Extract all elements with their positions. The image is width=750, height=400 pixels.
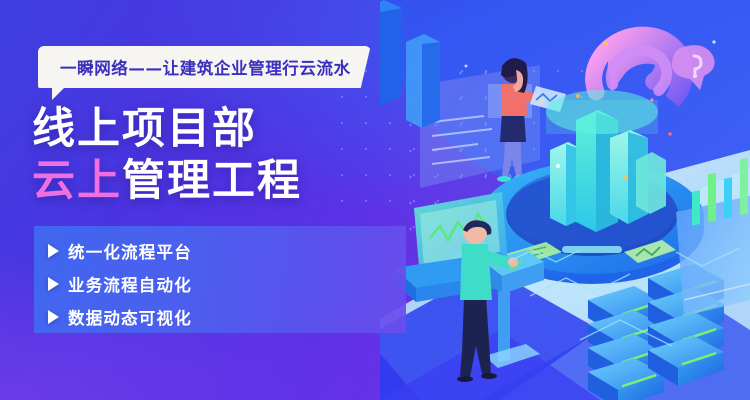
bullet-label: 统一化流程平台 [68, 239, 192, 263]
illustration-canvas [380, 0, 750, 400]
triangle-right-icon [48, 277, 59, 291]
bullet-label: 数据动态可视化 [68, 305, 192, 329]
text-column: 一瞬网络——让建筑企业管理行云流水 线上项目部 云上管理工程 统一化流程平台 业… [0, 0, 420, 400]
list-item: 业务流程自动化 [48, 267, 388, 300]
bullet-label: 业务流程自动化 [68, 272, 192, 296]
triangle-right-icon [48, 244, 59, 258]
tagline-text: 一瞬网络——让建筑企业管理行云流水 [60, 55, 351, 79]
tagline-banner: 一瞬网络——让建筑企业管理行云流水 [38, 46, 371, 88]
headline-line-1: 线上项目部 [32, 104, 302, 154]
list-item: 统一化流程平台 [48, 234, 388, 267]
feature-bullet-list: 统一化流程平台 业务流程自动化 数据动态可视化 [48, 234, 388, 333]
headline-rest-text: 管理工程 [122, 156, 302, 206]
list-item: 数据动态可视化 [48, 300, 388, 333]
headline-accent-text: 云上 [32, 156, 122, 206]
promo-banner: 一瞬网络——让建筑企业管理行云流水 线上项目部 云上管理工程 统一化流程平台 业… [0, 0, 750, 400]
triangle-right-icon [48, 310, 59, 324]
headline-line-2: 云上管理工程 [32, 156, 302, 206]
headline-block: 线上项目部 云上管理工程 [32, 104, 302, 206]
city-buildings [546, 90, 666, 232]
isometric-illustration [380, 0, 750, 400]
tagline-bubble: 一瞬网络——让建筑企业管理行云流水 [38, 46, 371, 88]
tagline-bubble-tail [52, 87, 65, 100]
